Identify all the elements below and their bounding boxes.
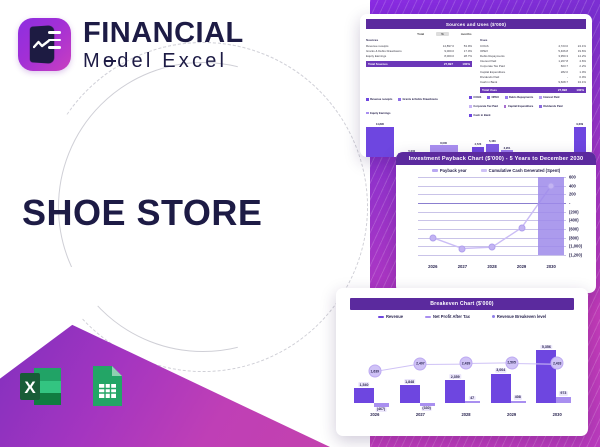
net-profit-bar — [511, 401, 526, 404]
x-axis-tick-label: 2026 — [428, 264, 437, 269]
row-label: Debts Repayments — [480, 54, 542, 58]
row-total: 8,000.0 — [428, 54, 454, 58]
format-badges: X — [18, 362, 130, 410]
sources-header: Sources — [366, 38, 472, 42]
bar-value-label: 3,951 — [504, 147, 511, 150]
investment-payback-card[interactable]: Investment Payback Chart ($'000) - 5 Yea… — [396, 152, 596, 293]
brand-subtitle-b: del Excel — [117, 50, 227, 72]
row-total: 9,608.7 — [542, 80, 568, 84]
bar-column: 14,890 — [366, 119, 394, 157]
row-label: Grants & Debts Drawdowns — [366, 49, 428, 53]
legend-label: Net Profit After Tax — [433, 314, 470, 319]
brand-subtitle-a: M — [83, 50, 103, 72]
sources-column: Sources Revenue receipts14,897.053.9%Gra… — [366, 38, 472, 93]
bar — [366, 127, 394, 157]
row-label: Equity Earnings — [366, 54, 428, 58]
legend-item: COGS — [469, 96, 481, 99]
x-axis-tick-label: 2030 — [553, 412, 562, 417]
legend-label: Revenue Breakeven level — [497, 314, 546, 319]
table-row: Grants & Debts Drawdowns9,000.017.0% — [366, 48, 472, 53]
data-point — [459, 245, 466, 252]
row-label: Dividends Paid — [480, 75, 542, 79]
data-point — [548, 182, 555, 189]
row-label: OPEX — [480, 49, 542, 53]
revenue-value-label: 5,356 — [541, 345, 552, 350]
net-profit-value-label: 47 — [469, 396, 475, 401]
net-profit-bar — [556, 397, 571, 404]
row-total: 5,466.8 — [542, 49, 568, 53]
table-row: Dividends Paid-0.0% — [480, 74, 586, 79]
row-pct: 34.1% — [568, 80, 586, 84]
legend-item: Grants & Debts Drawdowns — [398, 96, 438, 104]
row-pct: 19.6% — [568, 49, 586, 53]
row-total: 603.7 — [542, 64, 568, 68]
x-axis-tick-label: 2029 — [517, 264, 526, 269]
revenue-value-label: 1,540 — [358, 382, 369, 387]
legend-item: OPEX — [487, 96, 499, 99]
investment-payback-title: Investment Payback Chart ($'000) - 5 Yea… — [396, 152, 596, 165]
row-total: 282.0 — [542, 70, 568, 74]
legend-revenue-breakeven-level: Revenue Breakeven level — [492, 314, 546, 319]
table-row: OPEX5,466.819.6% — [480, 48, 586, 53]
table-row: Capital Expenditure282.01.0% — [480, 69, 586, 74]
legend-item: Interest Paid — [539, 96, 559, 99]
page-title: SHOE STORE — [22, 192, 262, 234]
revenue-bar — [491, 374, 511, 404]
row-label: Interest Paid — [480, 59, 542, 63]
sources-total-value: 27,897 — [427, 62, 453, 66]
logo-lines-icon — [48, 31, 62, 58]
breakeven-data-point: 1,639 — [368, 365, 381, 378]
revenue-bar — [445, 380, 465, 403]
row-total: 3,950.3 — [542, 54, 568, 58]
row-total: 9,000.0 — [428, 49, 454, 53]
net-profit-value-label: 973 — [559, 391, 567, 396]
legend-item: Revenue receipts — [366, 96, 392, 104]
breakeven-legend: Revenue Net Profit After Tax Revenue Bre… — [336, 310, 588, 319]
legend-item: Dividends Paid — [539, 105, 562, 108]
uses-column: Uses COGS4,723.024.1%OPEX5,466.819.6%Deb… — [480, 38, 586, 93]
row-total: 14,897.0 — [428, 44, 454, 48]
x-axis-tick-label: 2030 — [547, 264, 556, 269]
breakeven-data-point: 2,505 — [505, 356, 518, 369]
row-pct: 0.0% — [568, 75, 586, 79]
revenue-bar — [400, 385, 420, 403]
uses-header: Uses — [480, 38, 586, 42]
row-label: Corporate Tax Paid — [480, 64, 542, 68]
svg-text:X: X — [24, 378, 36, 397]
legend-label: Cumulative Cash Generated (Spent) — [489, 168, 560, 173]
table-row: Cash in Bank9,608.734.1% — [480, 79, 586, 84]
google-sheets-icon — [85, 362, 130, 410]
legend-swatch — [378, 316, 384, 319]
row-total: 4,723.0 — [542, 44, 568, 48]
investment-payback-legend: Payback year Cumulative Cash Generated (… — [396, 165, 596, 173]
row-pct: 28.7% — [454, 54, 472, 58]
x-axis-tick-label: 2027 — [416, 412, 425, 417]
net-profit-value-label: (467) — [376, 407, 387, 412]
net-profit-value-label: 408 — [514, 395, 522, 400]
breakeven-data-point: 2,407 — [414, 357, 427, 370]
data-point — [429, 234, 436, 241]
breakeven-data-point: 2,433 — [551, 357, 564, 370]
table-row: Interest Paid1,267.84.6% — [480, 59, 586, 64]
revenue-bar — [354, 388, 374, 403]
brand-subtitle: Model Excel — [83, 51, 227, 71]
table-row: Corporate Tax Paid603.72.2% — [480, 64, 586, 69]
uses-total-label: Total Uses — [481, 88, 541, 92]
bar-group: 3,004408 — [489, 335, 535, 403]
table-row: Revenue receipts14,897.053.9% — [366, 43, 472, 48]
legend-cumulative-cash: Cumulative Cash Generated (Spent) — [481, 168, 560, 173]
breakeven-title: Breakeven Chart ($'000) — [350, 298, 574, 310]
row-pct: 24.1% — [568, 44, 586, 48]
row-label: Revenue receipts — [366, 44, 428, 48]
legend-line-swatch — [481, 169, 487, 172]
brand-title: FINANCIAL — [83, 19, 244, 48]
sources-total-pct: 100% — [453, 62, 471, 66]
row-pct: 53.9% — [454, 44, 472, 48]
legend-label: Revenue — [386, 314, 403, 319]
legend-payback-year: Payback year — [432, 168, 467, 173]
microsoft-excel-icon: X — [18, 362, 63, 410]
months-pill: % — [436, 32, 449, 36]
row-pct: 4.6% — [568, 59, 586, 63]
uses-total-pct: 100% — [567, 88, 585, 92]
uses-legend: COGSOPEXDebts RepaymentsInterest PaidCor… — [469, 96, 586, 117]
table-row: Equity Earnings8,000.028.7% — [366, 53, 472, 58]
bar-value-label: 9,609 — [576, 123, 583, 126]
data-point — [518, 224, 525, 231]
legend-item: Equity Earnings — [366, 109, 391, 117]
revenue-value-label: 1,848 — [404, 379, 415, 384]
sources-total-label: Total Sources — [367, 62, 427, 66]
legend-item: Capital Expenditure — [504, 105, 533, 108]
x-axis-tick-label: 2029 — [507, 412, 516, 417]
data-point — [489, 244, 496, 251]
legend-item: Cash in Bank — [469, 114, 490, 117]
legend-dot-swatch — [492, 315, 495, 318]
uses-total-row: Total Uses 27,898 100% — [480, 87, 586, 93]
sources-and-uses-title: Sources and Uses ($'000) — [366, 19, 586, 29]
table-row: Debts Repayments3,950.314.2% — [480, 53, 586, 58]
row-pct: 14.2% — [568, 54, 586, 58]
legend-revenue: Revenue — [378, 314, 403, 319]
revenue-value-label: 2,359 — [450, 374, 461, 379]
breakeven-card[interactable]: Breakeven Chart ($'000) Revenue Net Prof… — [336, 288, 588, 436]
row-pct: 1.0% — [568, 70, 586, 74]
bar-value-label: 5,466 — [489, 140, 496, 143]
breakeven-plot: 1,540(467)20261,848(330)20272,3594720283… — [348, 325, 576, 417]
row-total: 1,267.8 — [542, 59, 568, 63]
net-profit-bar — [465, 401, 480, 403]
legend-net-profit-after-tax: Net Profit After Tax — [425, 314, 470, 319]
revenue-value-label: 3,004 — [495, 368, 506, 373]
breakeven-data-point: 2,439 — [460, 357, 473, 370]
row-total: - — [542, 75, 568, 79]
bar-value-label: 8,000 — [440, 142, 447, 145]
sources-total-row: Total Sources 27,897 100% — [366, 61, 472, 67]
legend-swatch — [432, 169, 438, 172]
sources-and-uses-header: Total % months — [366, 32, 586, 36]
row-pct: 17.0% — [454, 49, 472, 53]
x-axis-tick-label: 2026 — [370, 412, 379, 417]
brand-subtitle-o: o — [103, 51, 117, 71]
poster-canvas: FINANCIAL Model Excel SHOE STORE X — [0, 0, 600, 447]
col-total-label: Total — [417, 32, 424, 36]
table-row: COGS4,723.024.1% — [480, 43, 586, 48]
sources-legend: Revenue receiptsGrants & Debts Drawdowns… — [366, 96, 459, 117]
bar-value-label: 4,723 — [474, 143, 481, 146]
legend-label: Payback year — [440, 168, 467, 173]
bar-value-label: 14,890 — [376, 123, 384, 126]
x-axis-tick-label: 2028 — [487, 264, 496, 269]
financial-model-excel-logo-icon — [18, 18, 71, 71]
x-axis-tick-label: 2027 — [458, 264, 467, 269]
months-label: months — [461, 32, 472, 36]
brand-lockup: FINANCIAL Model Excel — [18, 18, 244, 71]
uses-total-value: 27,898 — [541, 88, 567, 92]
row-label: COGS — [480, 44, 542, 48]
legend-item: Corporate Tax Paid — [469, 105, 498, 108]
row-label: Capital Expenditure — [480, 70, 542, 74]
payback-plot: 600400200-(200)(400)(600)(800)(1,000)(1,… — [400, 177, 592, 269]
net-profit-value-label: (330) — [421, 406, 432, 411]
legend-swatch — [425, 316, 431, 319]
row-pct: 2.2% — [568, 64, 586, 68]
legend-item: Debts Repayments — [505, 96, 533, 99]
row-label: Cash in Bank — [480, 80, 542, 84]
x-axis-tick-label: 2028 — [461, 412, 470, 417]
sources-and-uses-card[interactable]: Sources and Uses ($'000) Total % months … — [360, 14, 592, 157]
